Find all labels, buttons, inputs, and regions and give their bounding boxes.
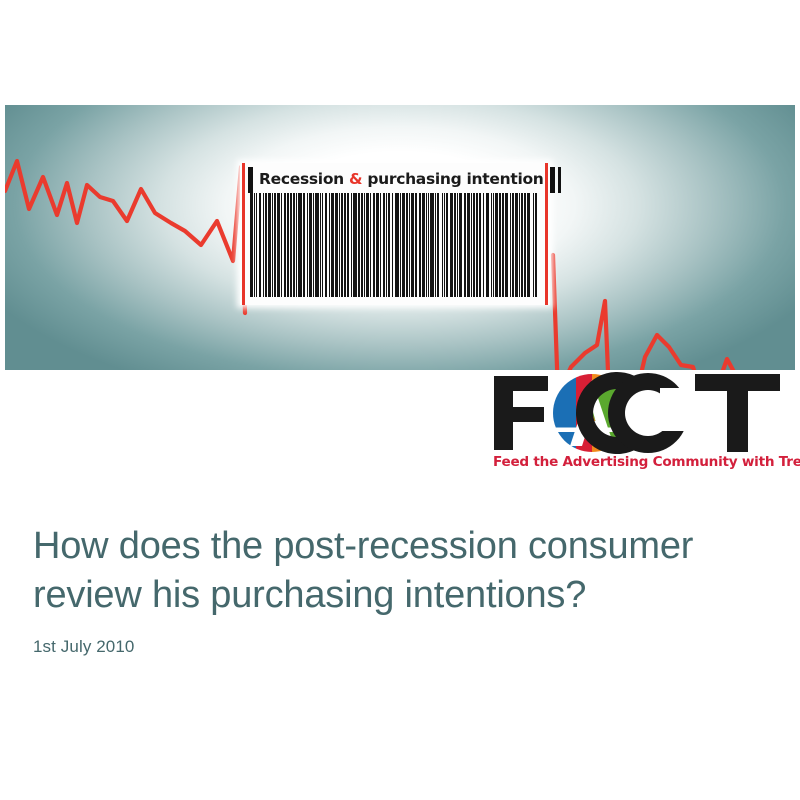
logo-letter-f xyxy=(494,376,548,450)
page-title-line-1: How does the post-recession consumer xyxy=(33,525,693,567)
barcode-guard-left xyxy=(242,163,245,305)
barcode-caption: Recession & purchasing intention xyxy=(256,172,547,188)
trend-line-left xyxy=(5,161,245,313)
barcode-bars xyxy=(250,193,540,297)
barcode-caption-ampersand: & xyxy=(349,170,362,188)
fact-tagline: Feed the Advertising Community with Tren… xyxy=(493,456,790,470)
barcode-guard-bar-right-2 xyxy=(558,167,561,193)
barcode-guard-bar-left xyxy=(248,167,253,193)
page-title-line-2: review his purchasing intentions? xyxy=(33,574,586,616)
hero-banner: Recession & purchasing intention xyxy=(5,105,795,370)
barcode-label: Recession & purchasing intention xyxy=(248,167,542,193)
slide-date: 1st July 2010 xyxy=(33,637,763,657)
fact-logo: Feed the Advertising Community with Tren… xyxy=(490,372,790,478)
barcode-panel: Recession & purchasing intention xyxy=(240,163,550,305)
title-block: How does the post-recession consumer rev… xyxy=(33,522,763,657)
fact-wordmark xyxy=(490,372,790,454)
page-title: How does the post-recession consumer rev… xyxy=(33,522,763,619)
logo-letter-t xyxy=(695,374,780,452)
barcode-guard-bar-right xyxy=(550,167,555,193)
trend-line-right xyxy=(553,255,795,370)
barcode-space xyxy=(537,193,538,297)
